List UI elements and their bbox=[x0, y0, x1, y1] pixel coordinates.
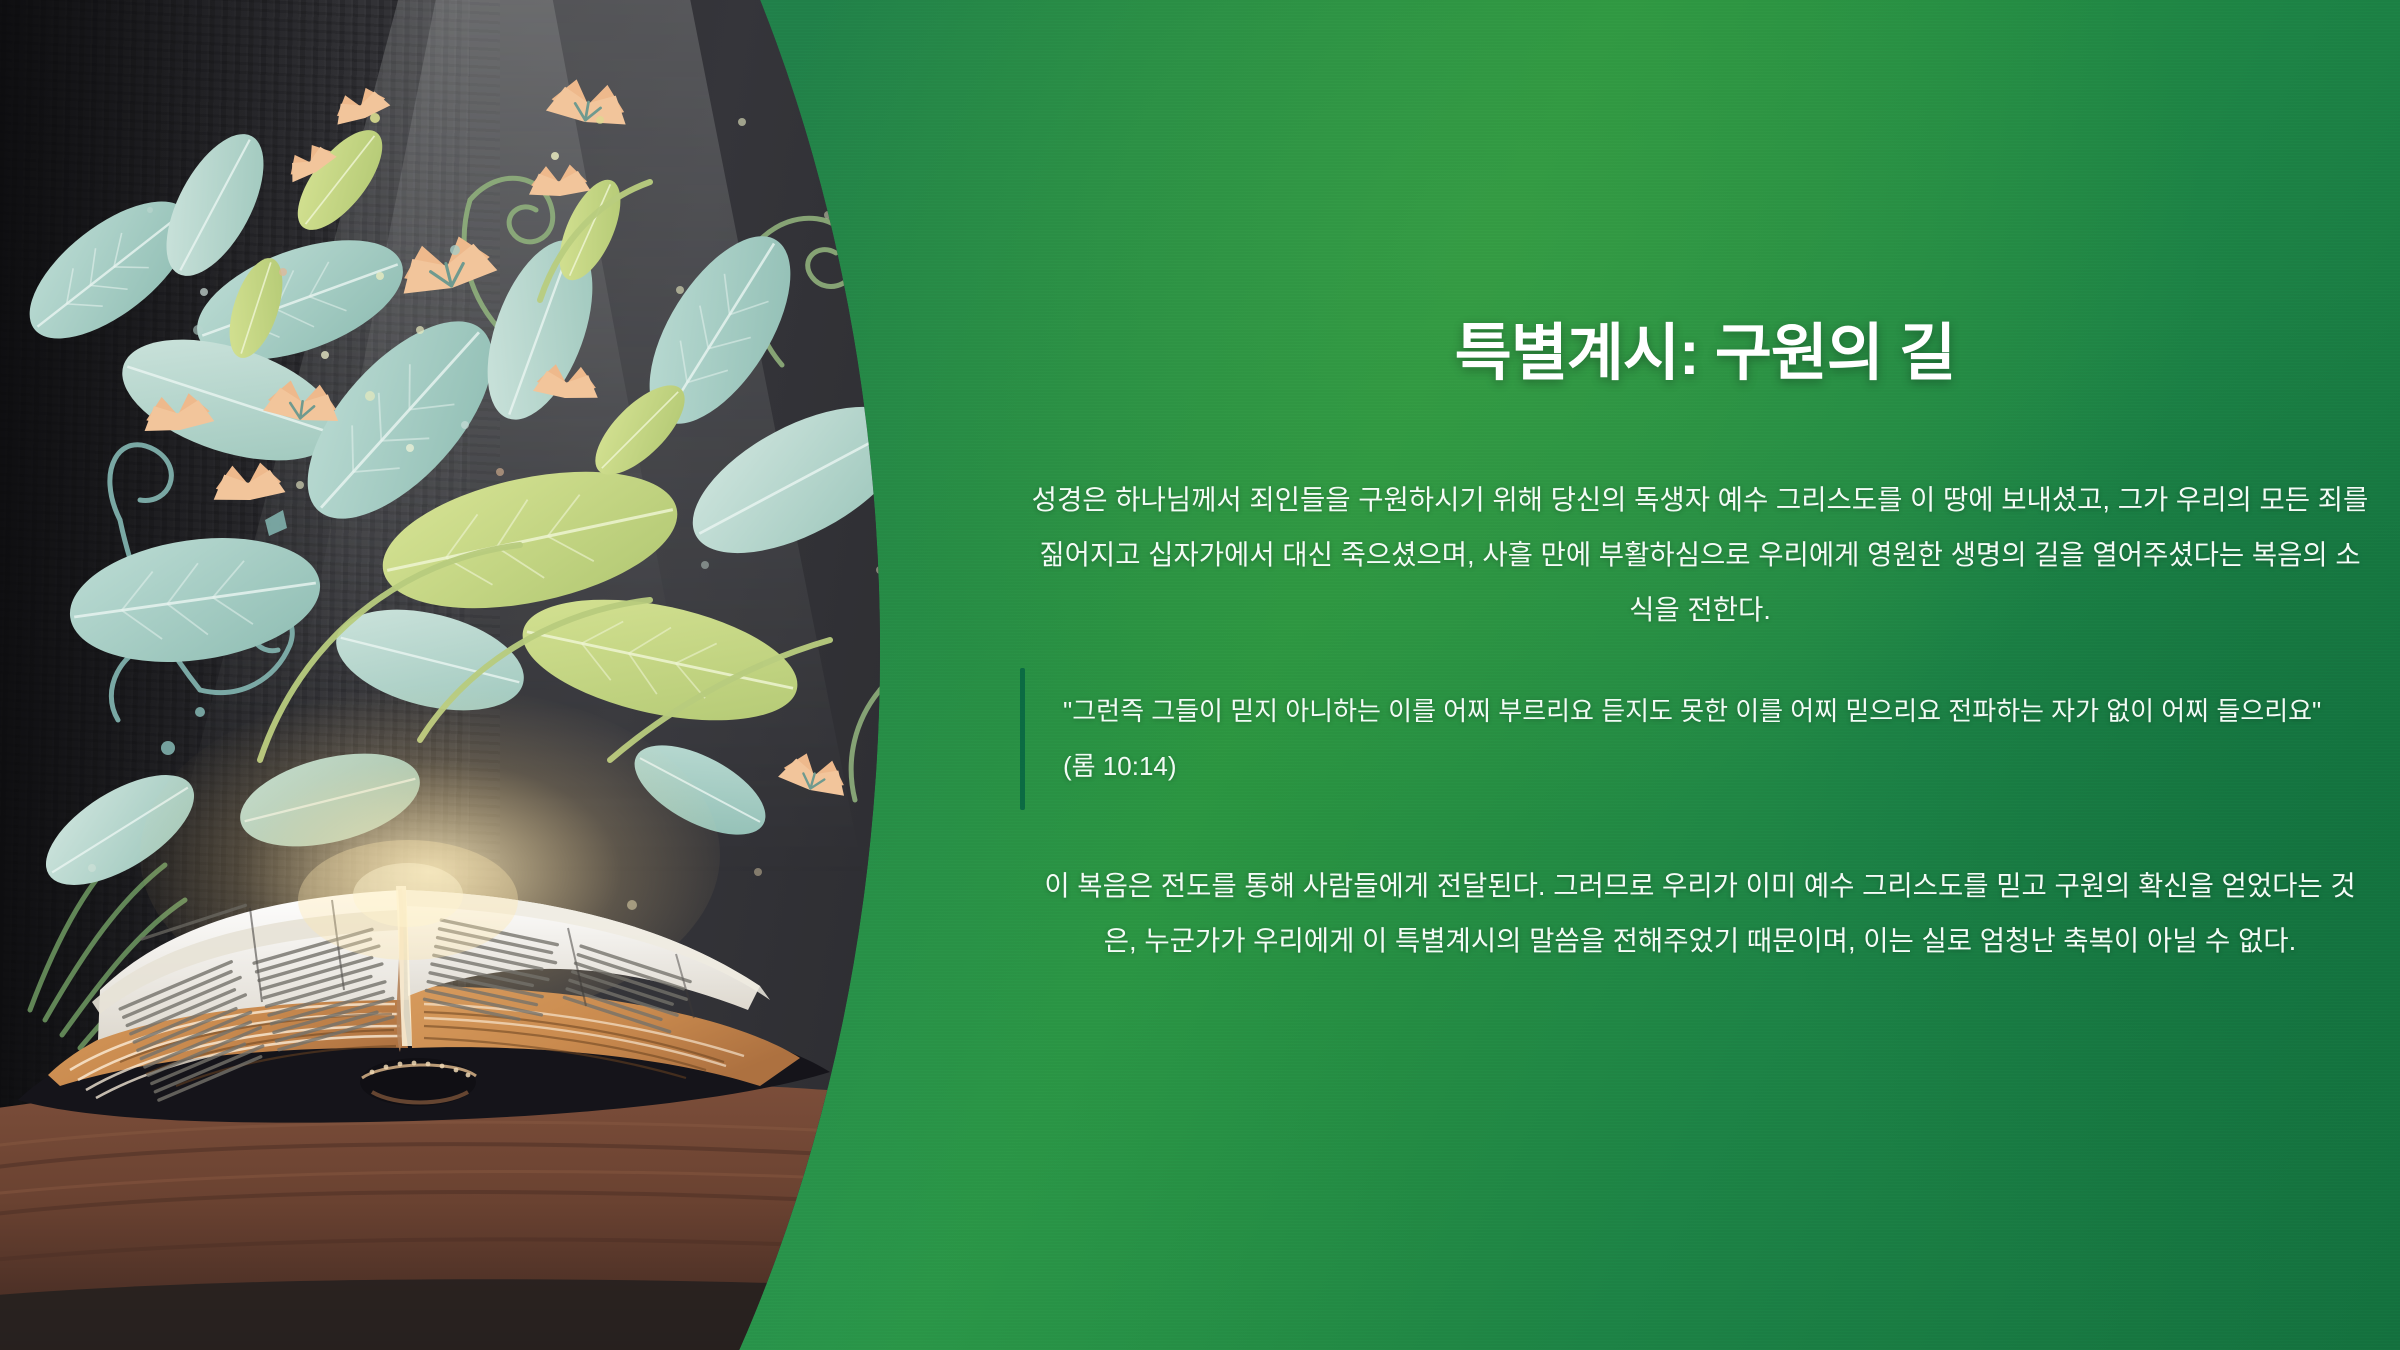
slide-root: 특별계시: 구원의 길 성경은 하나님께서 죄인들을 구원하시기 위해 당신의 … bbox=[0, 0, 2400, 1350]
lead-paragraph: 성경은 하나님께서 죄인들을 구원하시기 위해 당신의 독생자 예수 그리스도를… bbox=[1030, 472, 2370, 637]
scripture-quote-block: "그런즉 그들이 믿지 아니하는 이를 어찌 부르리요 듣지도 못한 이를 어찌… bbox=[1020, 668, 2380, 810]
text-column: 특별계시: 구원의 길 성경은 하나님께서 죄인들을 구원하시기 위해 당신의 … bbox=[1010, 0, 2400, 1350]
quote-text: "그런즉 그들이 믿지 아니하는 이를 어찌 부르리요 듣지도 못한 이를 어찌… bbox=[1025, 668, 2380, 810]
closing-paragraph: 이 복음은 전도를 통해 사람들에게 전달된다. 그러므로 우리가 이미 예수 … bbox=[1030, 858, 2370, 968]
page-title: 특별계시: 구원의 길 bbox=[1010, 320, 2400, 388]
